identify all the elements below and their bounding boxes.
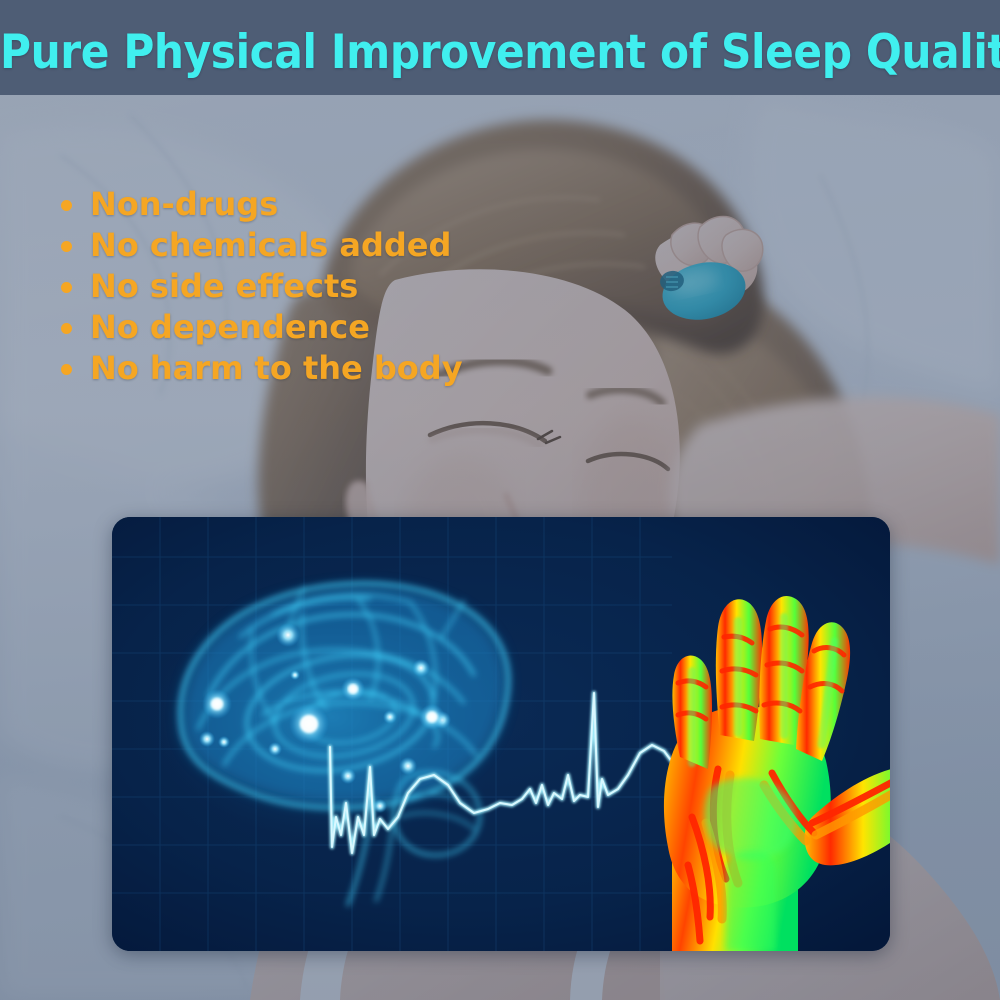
bullet-dot-icon [61, 241, 72, 252]
bullet-dot-icon [61, 364, 72, 375]
bullet-dot-icon [61, 323, 72, 334]
list-item: No chemicals added [55, 225, 525, 266]
list-item: Non-drugs [55, 184, 525, 225]
page-title: Pure Physical Improvement of Sleep Quali… [0, 24, 1000, 82]
list-item: No dependence [55, 307, 525, 348]
benefit-label: No chemicals added [90, 226, 451, 264]
science-panel [112, 517, 890, 951]
benefit-label: No harm to the body [90, 349, 463, 387]
list-item: No harm to the body [55, 348, 525, 389]
benefit-label: Non-drugs [90, 185, 278, 223]
benefit-label: No side effects [90, 267, 358, 305]
benefits-list: Non-drugs No chemicals added No side eff… [55, 184, 525, 389]
bullet-dot-icon [61, 200, 72, 211]
list-item: No side effects [55, 266, 525, 307]
benefit-label: No dependence [90, 308, 370, 346]
promo-banner: Pure Physical Improvement of Sleep Quali… [0, 0, 1000, 1000]
bullet-dot-icon [61, 282, 72, 293]
